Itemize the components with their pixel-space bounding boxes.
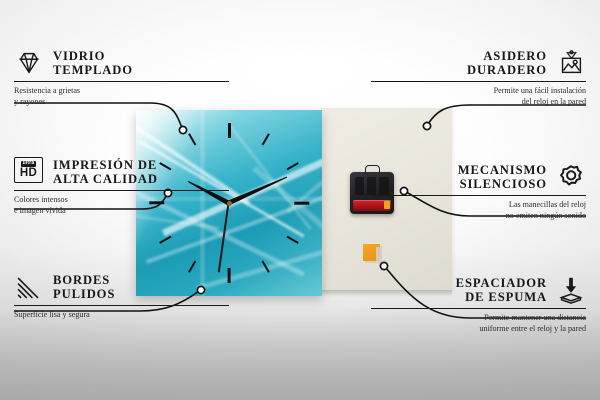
polished-edge-lines-icon — [14, 272, 44, 302]
badge-ultra-label: ultra — [21, 161, 37, 167]
infographic-canvas: VIDRIO TEMPLADO Resistencia a grietas y … — [0, 0, 600, 400]
divider — [371, 308, 586, 309]
feature-header: BORDES PULIDOS — [14, 272, 229, 302]
divider — [14, 81, 229, 82]
feature-title: VIDRIO TEMPLADO — [53, 49, 133, 78]
feature-subtitle: Resistencia a grietas y rayones — [14, 86, 229, 106]
feature-subtitle: Permite mantener una distancia uniforme … — [371, 313, 586, 333]
feature-title: ASIDERO DURADERO — [467, 49, 547, 78]
feature-title: IMPRESIÓN DE ALTA CALIDAD — [53, 158, 158, 187]
feature-vidrio-templado: VIDRIO TEMPLADO Resistencia a grietas y … — [14, 48, 229, 107]
divider — [371, 81, 586, 82]
feature-header: ESPACIADOR DE ESPUMA — [371, 275, 586, 305]
diamond-icon — [14, 48, 44, 78]
feature-title: MECANISMO SILENCIOSO — [458, 163, 547, 192]
minute-hand — [228, 175, 289, 206]
divider — [14, 190, 229, 191]
divider — [14, 305, 229, 306]
ultra-hd-badge-icon: ultra HD — [14, 157, 44, 187]
feature-header: MECANISMO SILENCIOSO — [371, 162, 586, 192]
gear-icon — [556, 162, 586, 192]
feature-impresion-alta-calidad: ultra HD IMPRESIÓN DE ALTA CALIDAD Color… — [14, 157, 229, 216]
feature-bordes-pulidos: BORDES PULIDOS Superficie lisa y segura — [14, 272, 229, 321]
feature-asidero-duradero: ASIDERO DURADERO Permite una fácil insta… — [371, 48, 586, 107]
divider — [371, 195, 586, 196]
feature-subtitle: Permite una fácil instalación del reloj … — [371, 86, 586, 106]
down-arrow-spacer-icon — [556, 275, 586, 305]
feature-espaciador-espuma: ESPACIADOR DE ESPUMA Permite mantener un… — [371, 275, 586, 334]
feature-subtitle: Superficie lisa y segura — [14, 310, 229, 320]
feature-header: ultra HD IMPRESIÓN DE ALTA CALIDAD — [14, 157, 229, 187]
feature-subtitle: Colores intensos e imagen vívida — [14, 195, 229, 215]
feature-subtitle: Las manecillas del reloj no emiten ningú… — [371, 200, 586, 220]
feature-mecanismo-silencioso: MECANISMO SILENCIOSO Las manecillas del … — [371, 162, 586, 221]
foam-spacer — [363, 244, 380, 261]
feature-title: BORDES PULIDOS — [53, 273, 115, 302]
hanging-picture-frame-icon — [556, 48, 586, 78]
feature-header: ASIDERO DURADERO — [371, 48, 586, 78]
feature-title: ESPACIADOR DE ESPUMA — [456, 276, 547, 305]
badge-hd-label: HD — [20, 168, 37, 180]
feature-header: VIDRIO TEMPLADO — [14, 48, 229, 78]
